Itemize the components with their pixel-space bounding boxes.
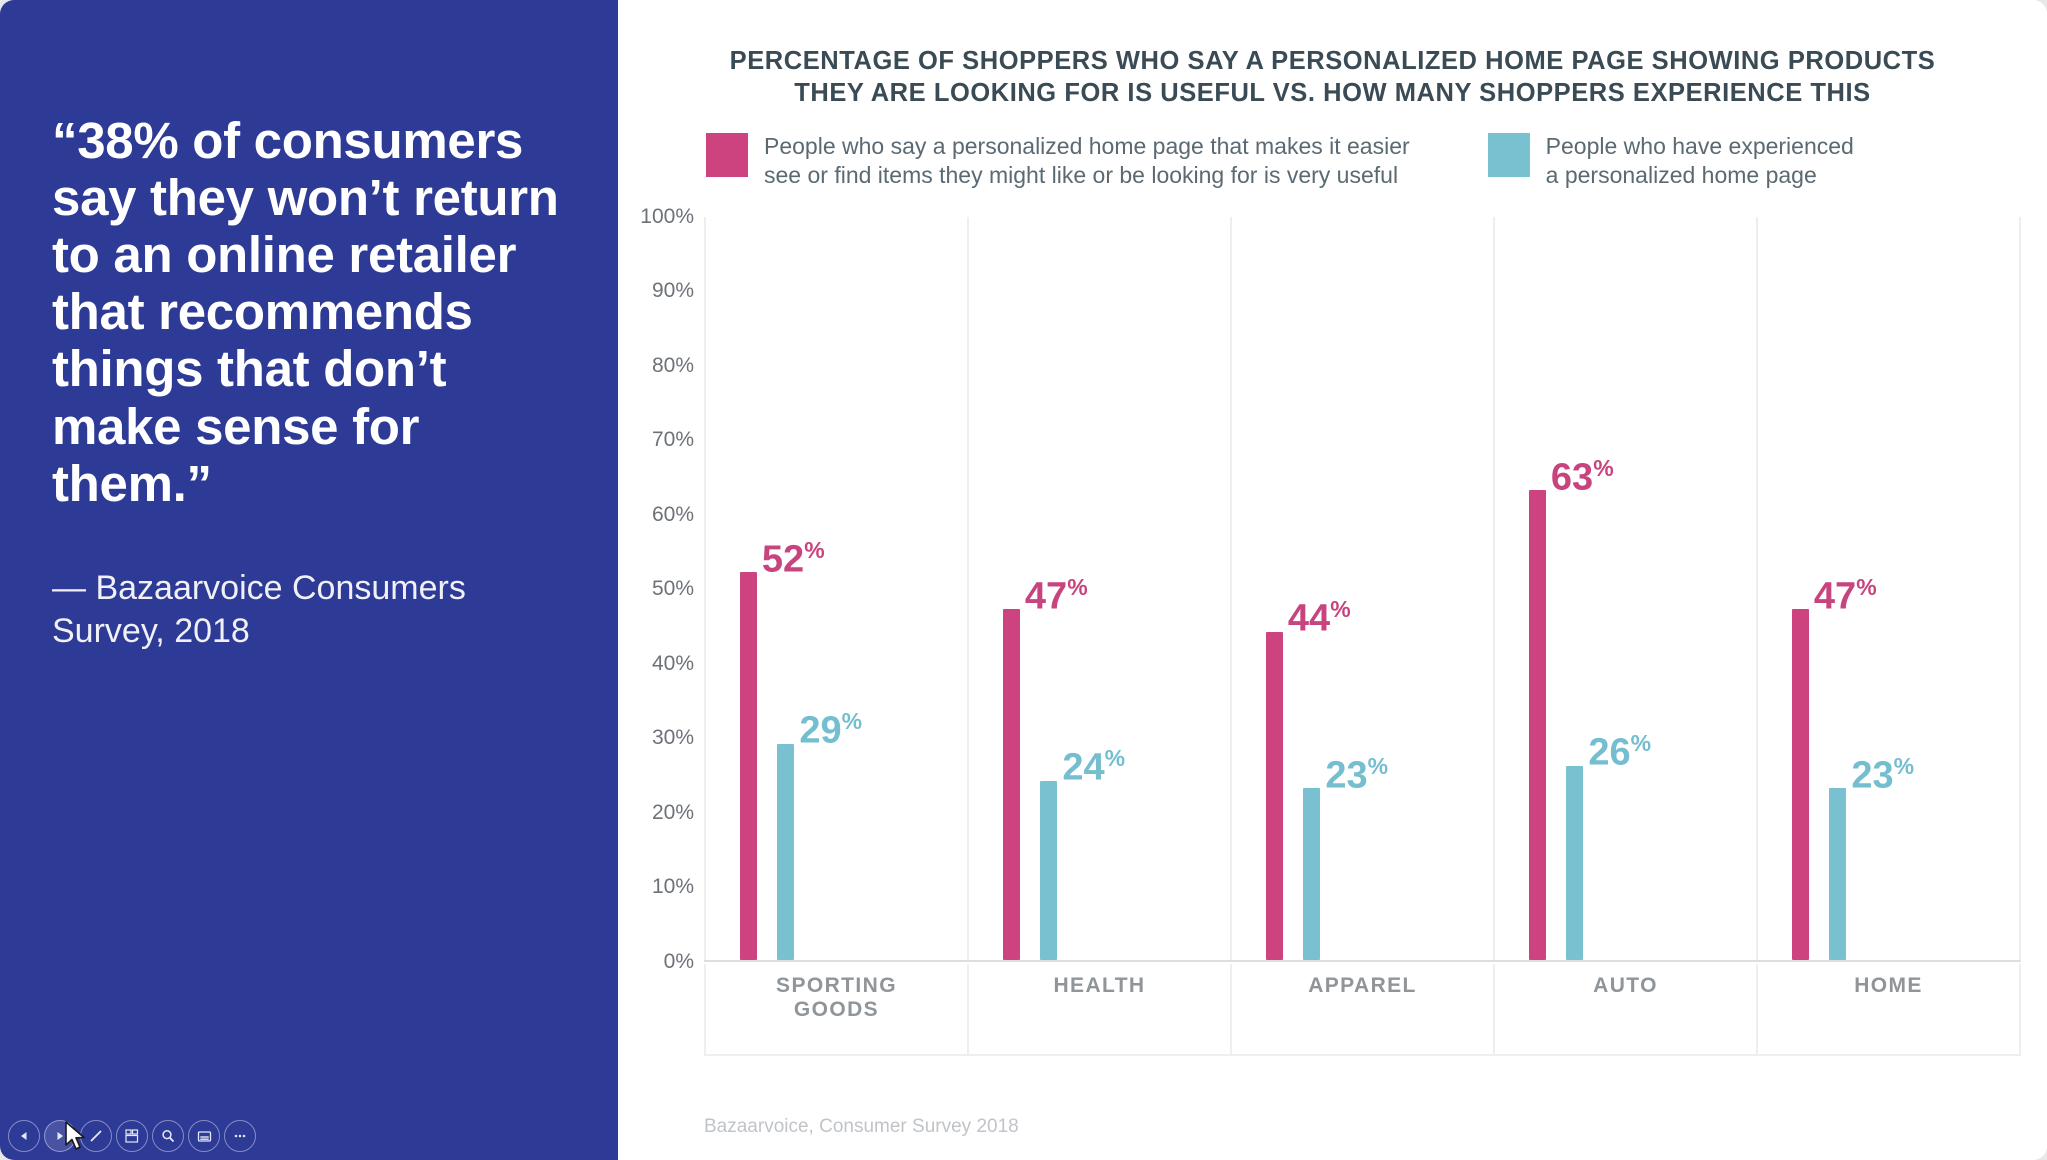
x-axis-cell: HOME [1758, 964, 2021, 1056]
bar-group: 52%29% [704, 217, 969, 960]
grid-layout-icon [124, 1128, 140, 1144]
y-axis-tick: 10% [652, 875, 694, 899]
chart-source: Bazaarvoice, Consumer Survey 2018 [704, 1116, 1019, 1138]
right-triangle-icon [53, 1129, 67, 1143]
y-axis: 100%90%80%70%60%50%40%30%20%10%0% [618, 217, 702, 962]
percent-sign: % [1067, 574, 1087, 600]
percent-sign: % [1856, 574, 1876, 600]
bar-value-number: 44 [1288, 598, 1330, 640]
magnifier-icon [160, 1128, 176, 1144]
legend-swatch-pink [706, 133, 748, 177]
y-axis-tick: 80% [652, 354, 694, 378]
next-slide-button[interactable] [44, 1120, 76, 1152]
percent-sign: % [1593, 455, 1613, 481]
bar-value-number: 52 [762, 538, 804, 580]
bar-value-label: 23% [1325, 755, 1388, 795]
bar-pink [1529, 490, 1546, 959]
presentation-toolbar [8, 1120, 256, 1152]
bar-pair: 52%29% [706, 217, 967, 960]
bar-pair: 47%24% [969, 217, 1230, 960]
quote-text: “38% of consumers say they won’t return … [52, 112, 560, 512]
bar-value-label: 23% [1851, 755, 1914, 795]
bar-pink [1003, 609, 1020, 959]
y-axis-tick: 0% [664, 950, 694, 974]
bar-value-number: 26 [1588, 732, 1630, 774]
bar-pair: 63%26% [1495, 217, 1756, 960]
legend-swatch-teal [1488, 133, 1530, 177]
more-options-button[interactable] [224, 1120, 256, 1152]
pen-icon [88, 1128, 104, 1144]
previous-slide-button[interactable] [8, 1120, 40, 1152]
plot-area: 52%29%47%24%44%23%63%26%47%23% [704, 217, 2021, 962]
legend-label-pink: People who say a personalized home page … [764, 132, 1410, 191]
bar-value-number: 63 [1551, 456, 1593, 498]
pen-tool-button[interactable] [80, 1120, 112, 1152]
ellipsis-icon [232, 1128, 248, 1144]
percent-sign: % [1105, 745, 1125, 771]
slide-layout-button[interactable] [116, 1120, 148, 1152]
bar-holder: 52% [740, 572, 757, 959]
x-axis-label: SPORTING GOODS [776, 974, 897, 1023]
bar-holder: 23% [1829, 788, 1846, 959]
bar-teal [1303, 788, 1320, 959]
x-axis-label: HOME [1854, 974, 1923, 998]
bar-value-label: 26% [1588, 732, 1651, 772]
y-axis-tick: 100% [640, 205, 694, 229]
bar-pink [1266, 632, 1283, 960]
bar-holder: 24% [1040, 781, 1057, 960]
caption-icon [196, 1128, 213, 1145]
bar-pair: 44%23% [1232, 217, 1493, 960]
y-axis-tick: 30% [652, 726, 694, 750]
bar-pink [740, 572, 757, 959]
percent-sign: % [1631, 730, 1651, 756]
legend-item-teal: People who have experienced a personaliz… [1488, 132, 1854, 191]
bar-group: 63%26% [1495, 217, 1758, 960]
y-axis-tick: 50% [652, 577, 694, 601]
bar-group: 44%23% [1232, 217, 1495, 960]
x-axis-cell: APPAREL [1232, 964, 1495, 1056]
chart-legend: People who say a personalized home page … [618, 110, 2047, 191]
bar-group: 47%23% [1758, 217, 2021, 960]
legend-item-pink: People who say a personalized home page … [706, 132, 1410, 191]
x-axis-cell: HEALTH [969, 964, 1232, 1056]
bar-value-label: 44% [1288, 598, 1351, 638]
plot-wrapper: 100%90%80%70%60%50%40%30%20%10%0% 52%29%… [618, 217, 2021, 1057]
bar-holder: 23% [1303, 788, 1320, 959]
left-triangle-icon [17, 1129, 31, 1143]
bar-value-number: 47 [1025, 575, 1067, 617]
bar-holder: 29% [777, 744, 794, 960]
bar-value-number: 23 [1851, 754, 1893, 796]
bar-pair: 47%23% [1758, 217, 2019, 960]
quote-attribution: — Bazaarvoice Consumers Survey, 2018 [52, 567, 560, 654]
percent-sign: % [1368, 753, 1388, 779]
zoom-tool-button[interactable] [152, 1120, 184, 1152]
bar-group: 47%24% [969, 217, 1232, 960]
x-axis: SPORTING GOODSHEALTHAPPARELAUTOHOME [704, 964, 2021, 1056]
presenter-notes-button[interactable] [188, 1120, 220, 1152]
bar-value-number: 29 [799, 710, 841, 752]
y-axis-tick: 60% [652, 503, 694, 527]
bar-holder: 47% [1792, 609, 1809, 959]
bar-holder: 63% [1529, 490, 1546, 959]
percent-sign: % [842, 708, 862, 734]
y-axis-tick: 20% [652, 801, 694, 825]
y-axis-tick: 90% [652, 279, 694, 303]
y-axis-tick: 40% [652, 652, 694, 676]
bar-value-number: 47 [1814, 575, 1856, 617]
x-axis-label: HEALTH [1053, 974, 1145, 998]
bar-holder: 44% [1266, 632, 1283, 960]
bar-teal [1566, 766, 1583, 960]
percent-sign: % [1894, 753, 1914, 779]
bar-holder: 47% [1003, 609, 1020, 959]
percent-sign: % [1330, 596, 1350, 622]
x-axis-cell: SPORTING GOODS [704, 964, 969, 1056]
bar-value-label: 47% [1025, 576, 1088, 616]
bar-value-label: 29% [799, 710, 862, 750]
chart-panel: PERCENTAGE OF SHOPPERS WHO SAY A PERSONA… [618, 0, 2047, 1160]
x-axis-label: APPAREL [1308, 974, 1417, 998]
quote-panel: “38% of consumers say they won’t return … [0, 0, 618, 1160]
bar-teal [777, 744, 794, 960]
bar-value-number: 24 [1062, 747, 1104, 789]
bar-teal [1829, 788, 1846, 959]
bar-value-label: 63% [1551, 457, 1614, 497]
presentation-slide: “38% of consumers say they won’t return … [0, 0, 2047, 1160]
bar-value-number: 23 [1325, 754, 1367, 796]
chart-title: PERCENTAGE OF SHOPPERS WHO SAY A PERSONA… [618, 0, 2047, 110]
bar-value-label: 24% [1062, 747, 1125, 787]
percent-sign: % [804, 537, 824, 563]
y-axis-tick: 70% [652, 428, 694, 452]
x-axis-cell: AUTO [1495, 964, 1758, 1056]
legend-label-teal: People who have experienced a personaliz… [1546, 132, 1854, 191]
bar-value-label: 52% [762, 539, 825, 579]
x-axis-label: AUTO [1593, 974, 1658, 998]
bar-teal [1040, 781, 1057, 960]
bar-value-label: 47% [1814, 576, 1877, 616]
bar-holder: 26% [1566, 766, 1583, 960]
bar-pink [1792, 609, 1809, 959]
